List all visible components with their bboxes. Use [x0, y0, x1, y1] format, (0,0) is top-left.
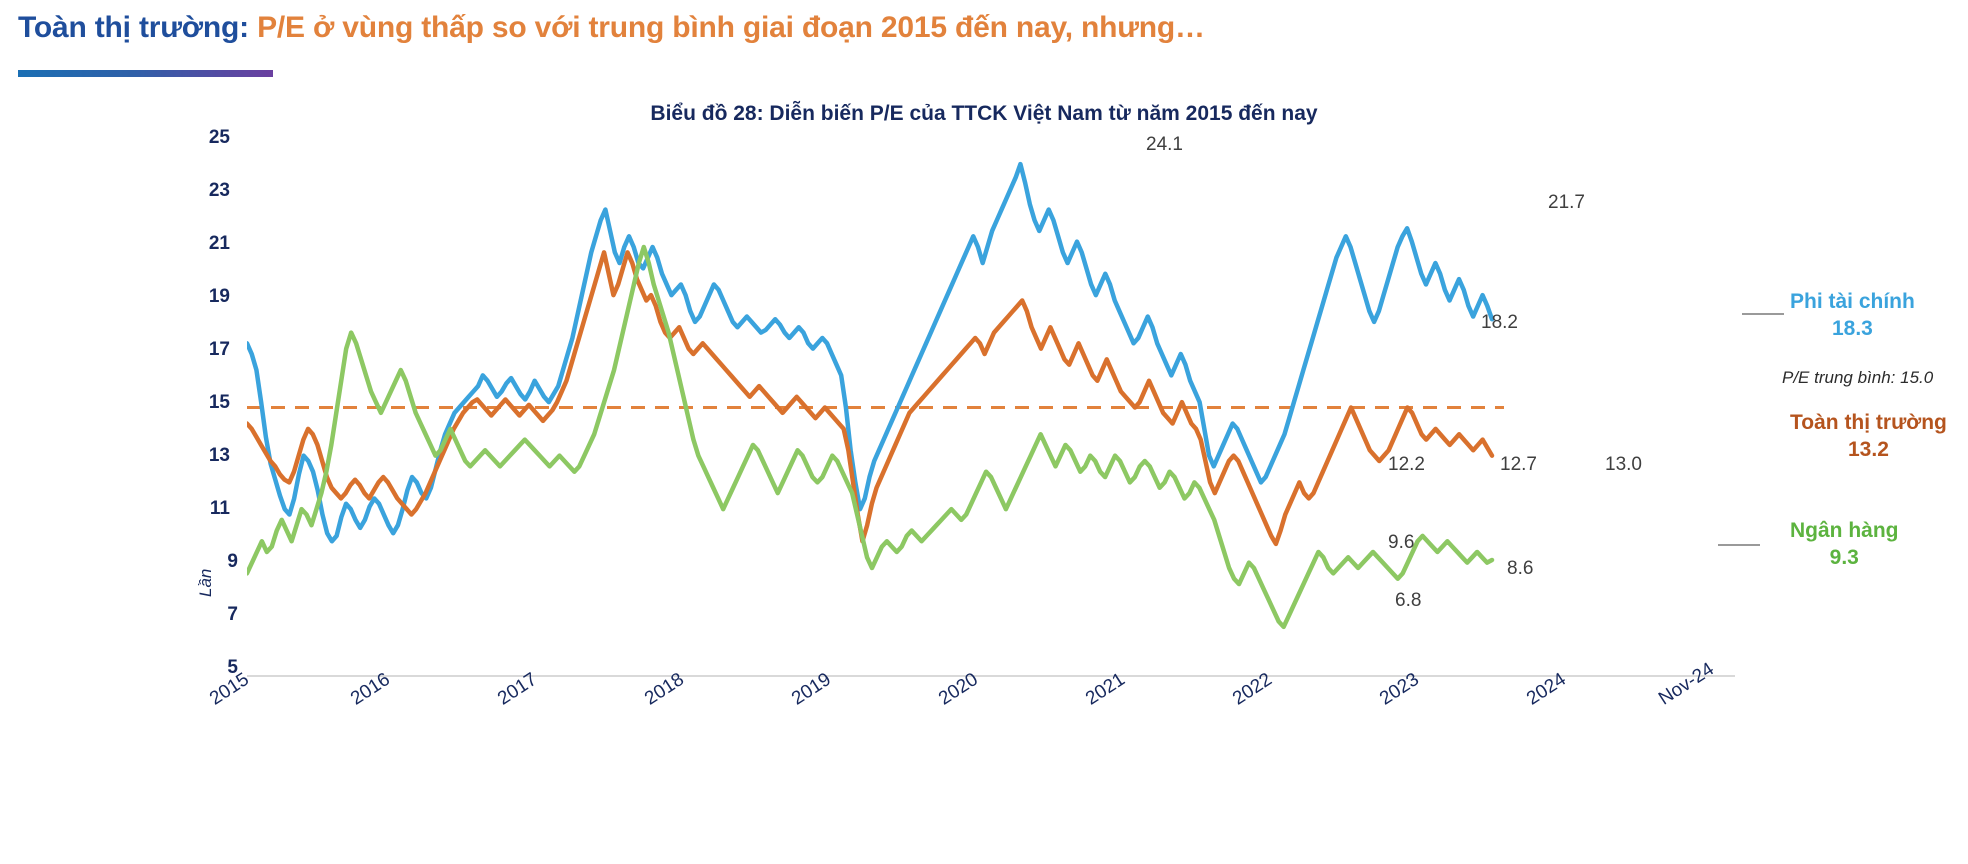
chart-container: Biểu đồ 28: Diễn biến P/E của TTCK Việt … — [0, 92, 1968, 864]
annotation-9-6: 9.6 — [1388, 532, 1414, 554]
annotation-18-2: 18.2 — [1481, 312, 1518, 334]
average-line-label: P/E trung bình: 15.0 — [1782, 368, 1933, 388]
annotation-12-7: 12.7 — [1500, 454, 1537, 476]
title-underline-rule — [18, 70, 273, 77]
annotation-12-2: 12.2 — [1388, 454, 1425, 476]
leader-line-phi-tai-chinh — [1742, 313, 1784, 315]
series-value-toan-thi-truong: 13.2 — [1790, 436, 1947, 463]
series-name-phi-tai-chinh: Phi tài chính — [1790, 290, 1915, 313]
y-tick-7: 7 — [178, 604, 238, 626]
annotation-21-7: 21.7 — [1548, 192, 1585, 214]
series-value-phi-tai-chinh: 18.3 — [1790, 315, 1915, 342]
y-tick-21: 21 — [170, 233, 230, 255]
leader-line-ngan-hang — [1718, 544, 1760, 546]
x-axis-line — [247, 675, 1735, 677]
series-lines — [247, 140, 1735, 675]
slide-header: Toàn thị trường: P/E ở vùng thấp so với … — [18, 6, 1938, 86]
annotation-6-8: 6.8 — [1395, 590, 1421, 612]
series-label-ngan-hang: Ngân hàng 9.3 — [1790, 517, 1899, 571]
y-tick-25: 25 — [170, 127, 230, 149]
series-name-ngan-hang: Ngân hàng — [1790, 519, 1899, 542]
page-title: Toàn thị trường: P/E ở vùng thấp so với … — [18, 6, 1938, 50]
y-tick-13: 13 — [170, 445, 230, 467]
plot-area — [247, 140, 1735, 675]
y-tick-19: 19 — [170, 286, 230, 308]
y-tick-17: 17 — [170, 339, 230, 361]
series-label-toan-thi-truong: Toàn thị trường 13.2 — [1790, 409, 1947, 463]
line-ngan-hang — [247, 247, 1492, 627]
y-tick-15: 15 — [170, 392, 230, 414]
series-name-toan-thi-truong: Toàn thị trường — [1790, 411, 1947, 434]
annotation-13-0: 13.0 — [1605, 454, 1642, 476]
annotation-8-6: 8.6 — [1507, 558, 1533, 580]
y-tick-23: 23 — [170, 180, 230, 202]
y-tick-9: 9 — [178, 551, 238, 573]
line-phi-tai-chinh — [247, 164, 1492, 541]
page-title-rest: P/E ở vùng thấp so với trung bình giai đ… — [257, 11, 1205, 44]
y-tick-11: 11 — [170, 498, 230, 520]
series-value-ngan-hang: 9.3 — [1790, 544, 1899, 571]
line-toan-thi-truong — [247, 252, 1492, 544]
page-title-lead: Toàn thị trường: — [18, 11, 249, 44]
chart-title: Biểu đồ 28: Diễn biến P/E của TTCK Việt … — [0, 102, 1968, 126]
annotation-24-1: 24.1 — [1146, 134, 1183, 156]
series-label-phi-tai-chinh: Phi tài chính 18.3 — [1790, 288, 1915, 342]
